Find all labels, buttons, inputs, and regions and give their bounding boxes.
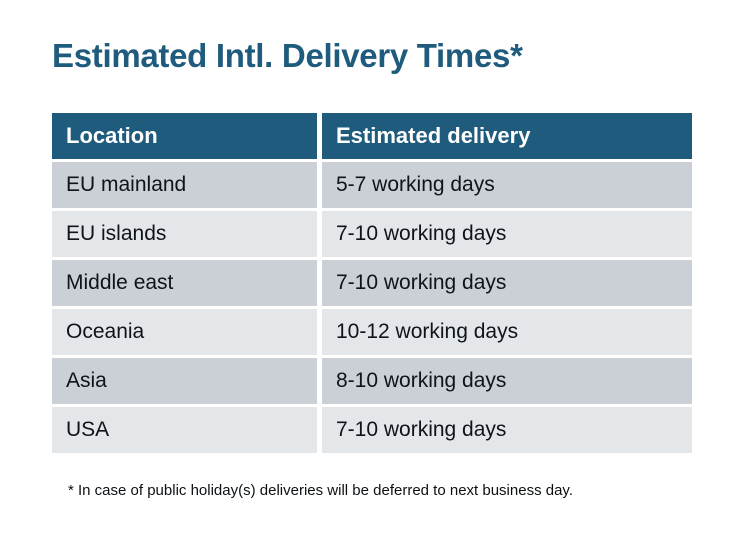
table-row: EU mainland 5-7 working days [52,162,692,208]
table-header-row: Location Estimated delivery [52,113,692,159]
column-header-location: Location [52,113,317,159]
table-row: Oceania 10-12 working days [52,309,692,355]
cell-estimated-delivery: 7-10 working days [322,407,692,453]
table-row: EU islands 7-10 working days [52,211,692,257]
cell-location: Oceania [52,309,317,355]
estimated-delivery-table: Location Estimated delivery EU mainland … [52,113,692,456]
cell-location: Middle east [52,260,317,306]
cell-location: EU mainland [52,162,317,208]
column-header-estimated-delivery: Estimated delivery [322,113,692,159]
cell-estimated-delivery: 7-10 working days [322,211,692,257]
table-row: USA 7-10 working days [52,407,692,453]
cell-estimated-delivery: 5-7 working days [322,162,692,208]
cell-location: USA [52,407,317,453]
delivery-times-card: Estimated Intl. Delivery Times* Location… [0,0,745,536]
footnote-public-holiday: * In case of public holiday(s) deliverie… [68,481,573,501]
cell-estimated-delivery: 10-12 working days [322,309,692,355]
table-row: Middle east 7-10 working days [52,260,692,306]
cell-location: Asia [52,358,317,404]
cell-estimated-delivery: 8-10 working days [322,358,692,404]
table-row: Asia 8-10 working days [52,358,692,404]
cell-estimated-delivery: 7-10 working days [322,260,692,306]
page-title: Estimated Intl. Delivery Times* [52,36,523,76]
cell-location: EU islands [52,211,317,257]
